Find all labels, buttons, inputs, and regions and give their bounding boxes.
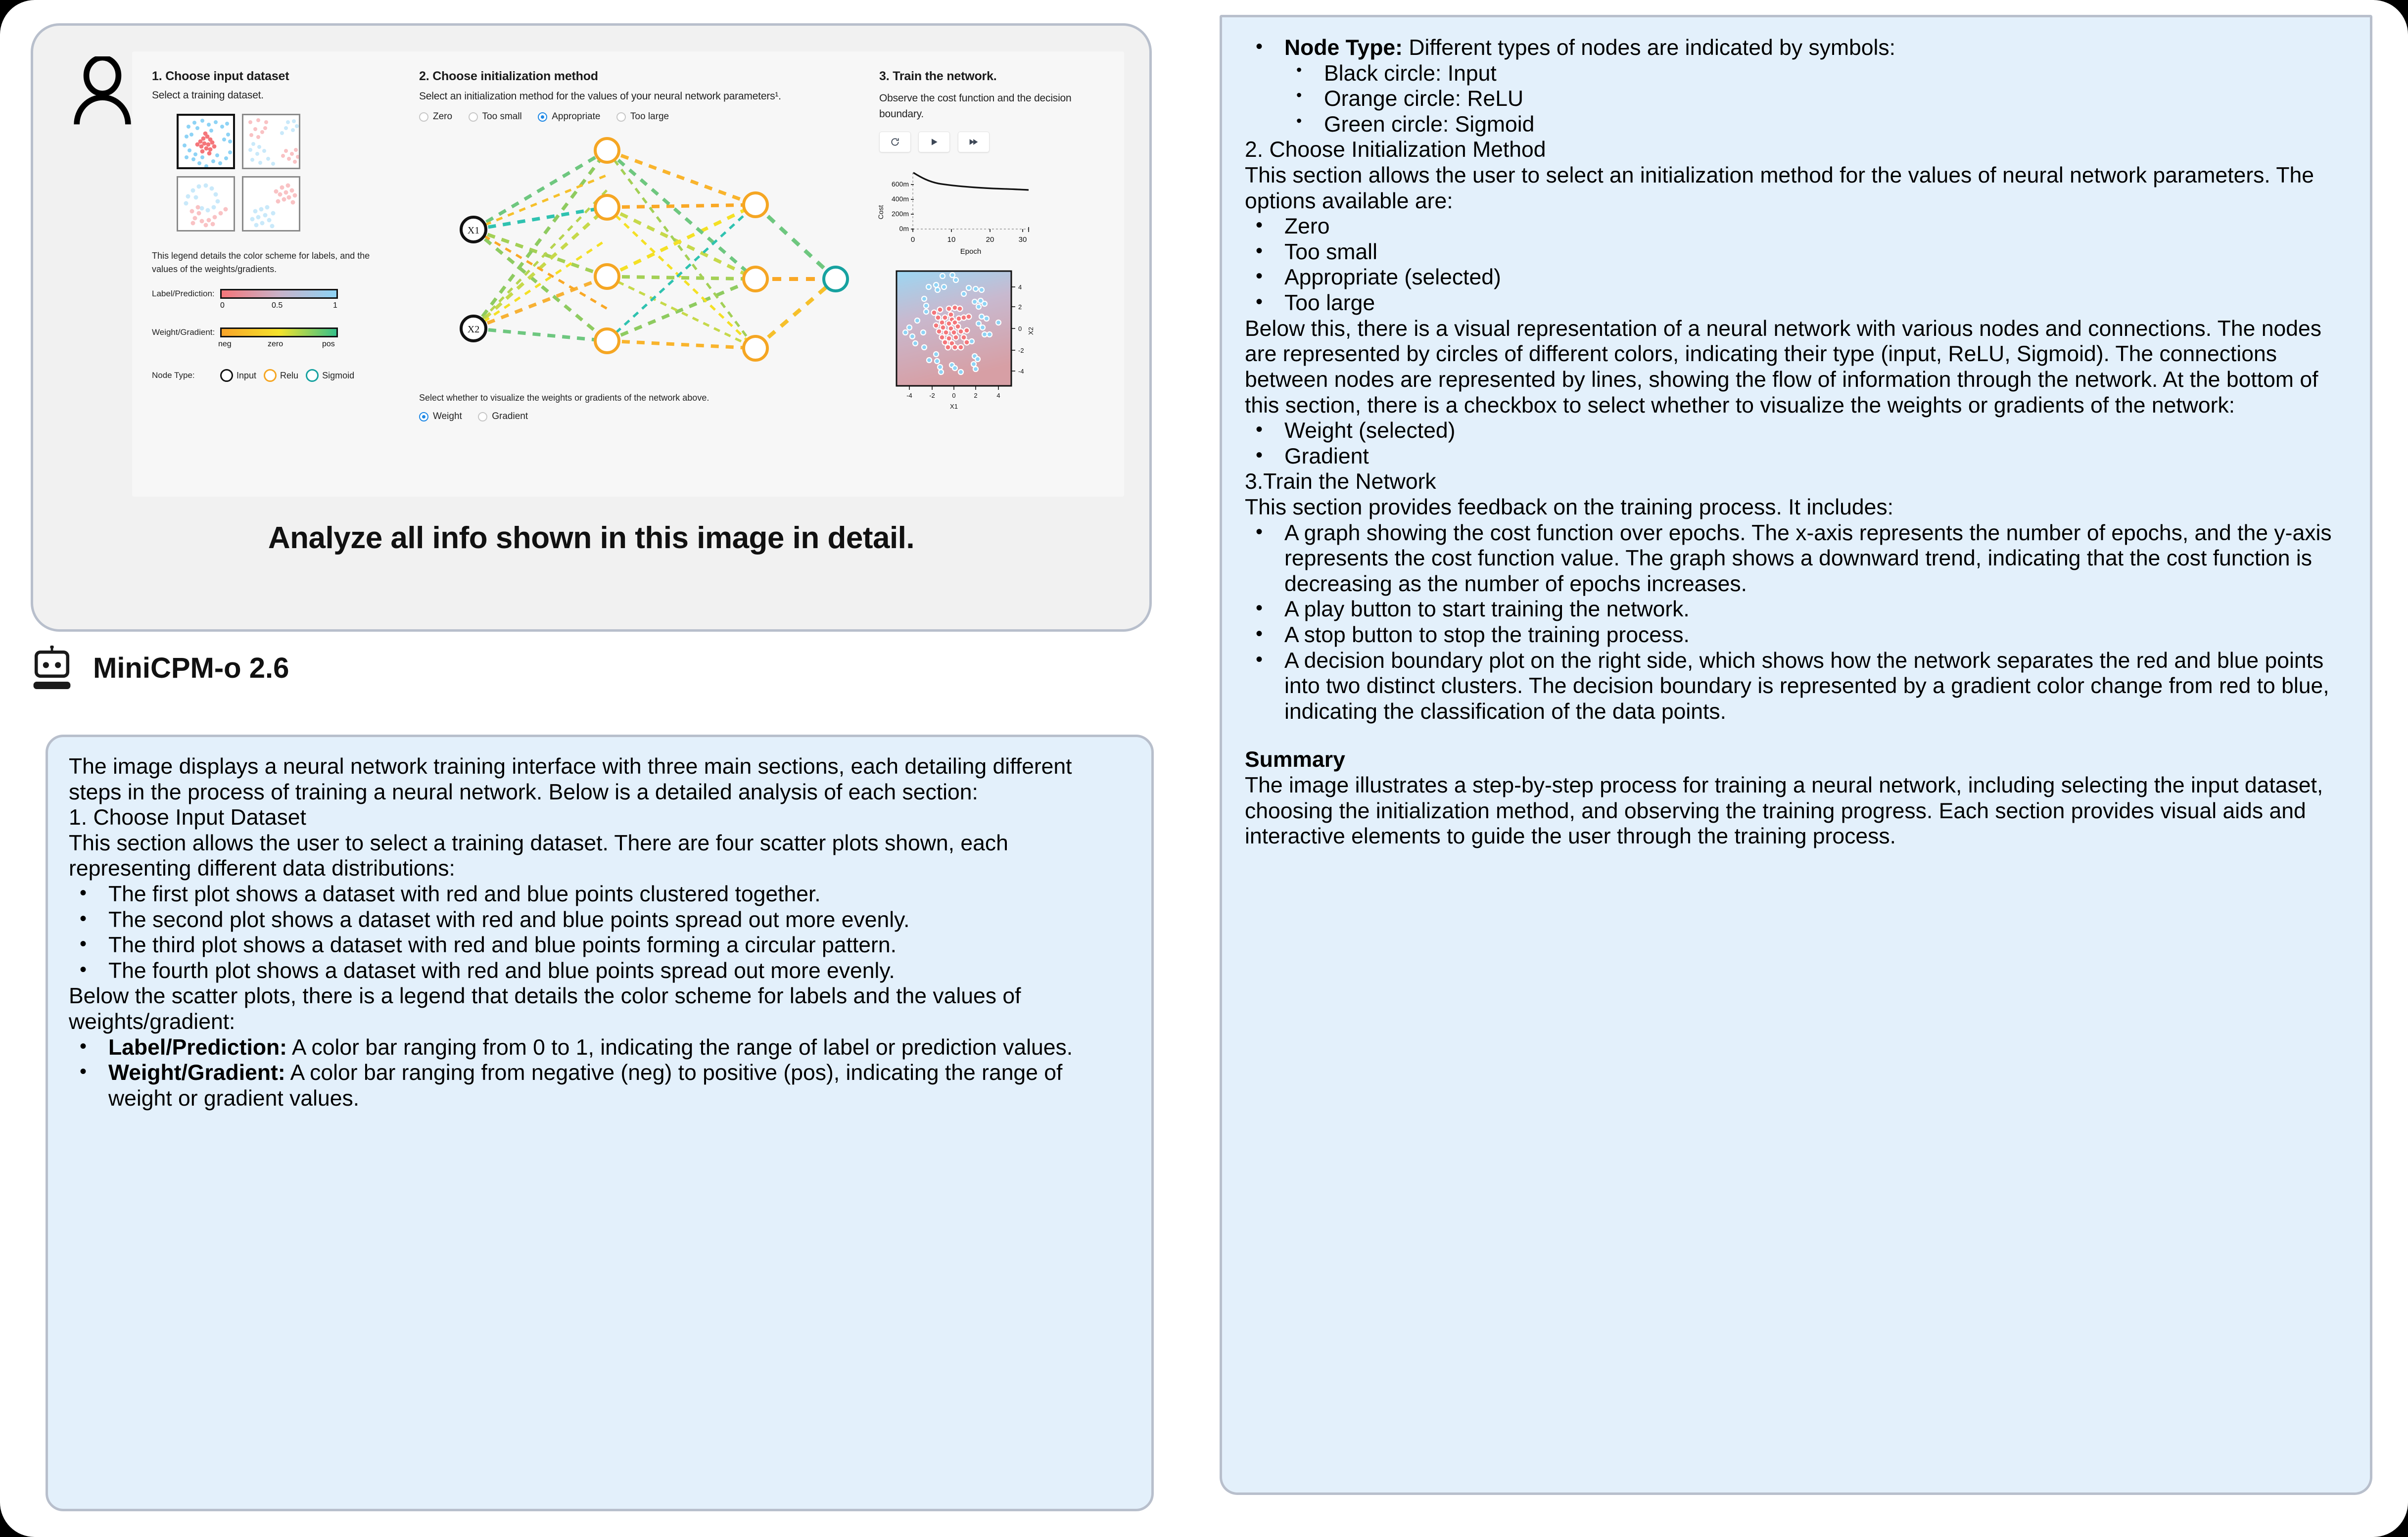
node-type-sub-list: Black circle: Input Orange circle: ReLU … [1245, 61, 2347, 138]
legend-desc-label-prediction: A color bar ranging from 0 to 1, indicat… [287, 1035, 1073, 1060]
response-para-5: This section provides feedback on the tr… [1245, 495, 2347, 520]
radio-dot-gradient[interactable] [478, 412, 487, 421]
list-item: Zero [1245, 214, 2347, 239]
list-item: Too large [1245, 290, 2347, 316]
legend-intro: This legend details the color scheme for… [152, 249, 384, 276]
response-para-2: Below the scatter plots, there is a lege… [69, 983, 1131, 1034]
response-heading-1: 1. Choose Input Dataset [69, 805, 1131, 831]
label-prediction-ticks: 0 0.5 1 [220, 301, 338, 311]
svg-text:600m: 600m [892, 180, 909, 188]
right-column: Node Type: Different types of nodes are … [1200, 0, 2408, 1537]
user-avatar-icon [70, 56, 135, 126]
relu-node-icon [264, 369, 277, 382]
label-prediction-legend: Label/Prediction: [152, 289, 384, 299]
dataset-bullet-list: The first plot shows a dataset with red … [69, 882, 1131, 983]
cost-chart-ylabel: Cost [877, 205, 885, 220]
list-item: The third plot shows a dataset with red … [69, 932, 1131, 958]
svg-text:X2: X2 [468, 324, 479, 335]
user-message-card: 1. Choose input dataset Select a trainin… [31, 23, 1152, 632]
label-prediction-label: Label/Prediction: [152, 289, 215, 299]
list-item: The fourth plot shows a dataset with red… [69, 958, 1131, 984]
viz-option-weight[interactable]: Weight [419, 411, 462, 422]
viz-option-weight-label: Weight [433, 411, 462, 422]
decision-boundary-plot: 420 -2-4 X2 -4-20 24 X1 [877, 264, 1045, 422]
svg-text:20: 20 [986, 235, 994, 244]
node-type-legend: Node Type: Input Relu Sigmoid [152, 369, 384, 382]
weight-gradient-ticks: neg zero pos [220, 339, 338, 349]
svg-text:-4: -4 [906, 392, 912, 399]
svg-text:200m: 200m [892, 210, 909, 218]
input-node-icon [220, 369, 233, 382]
svg-text:30: 30 [1019, 235, 1027, 244]
list-item: Orange circle: ReLU [1245, 86, 2347, 112]
list-item: Weight/Gradient: A color bar ranging fro… [69, 1060, 1131, 1111]
list-item: Gradient [1245, 444, 2347, 469]
list-item: The second plot shows a dataset with red… [69, 907, 1131, 933]
sigmoid-node-icon [306, 369, 319, 382]
response-para-4: Below this, there is a visual representa… [1245, 316, 2347, 418]
list-item: Node Type: Different types of nodes are … [1245, 35, 2347, 61]
panel2-subtitle: Select an initialization method for the … [419, 91, 845, 102]
play-icon [929, 137, 939, 147]
summary-heading: Summary [1245, 747, 2347, 773]
svg-text:0m: 0m [899, 225, 909, 233]
viz-option-gradient-label: Gradient [492, 411, 528, 422]
screenshot-panel-train: 3. Train the network. Observe the cost f… [879, 69, 1087, 152]
svg-text:0: 0 [952, 392, 955, 399]
legend-term-label-prediction: Label/Prediction: [108, 1035, 287, 1060]
legend-term-weight-gradient: Weight/Gradient: [108, 1061, 285, 1085]
init-options-list: Zero Too small Appropriate (selected) To… [1245, 214, 2347, 316]
svg-text:4: 4 [1018, 283, 1022, 291]
svg-text:-2: -2 [1018, 347, 1024, 354]
response-heading-2: 2. Choose Initialization Method [1245, 137, 2347, 163]
response-intro: The image displays a neural network trai… [69, 754, 1131, 805]
node-type-input-label: Input [236, 371, 256, 381]
assistant-header: MiniCPM-o 2.6 [31, 646, 289, 690]
panel2-title: 2. Choose initialization method [419, 69, 845, 84]
list-item: A stop button to stop the training proce… [1245, 622, 2347, 648]
weight-gradient-colorbar [220, 327, 338, 337]
weight-gradient-label: Weight/Gradient: [152, 327, 215, 337]
response-heading-3: 3.Train the Network [1245, 469, 2347, 495]
node-type-bullet-list: Node Type: Different types of nodes are … [1245, 35, 2347, 61]
dataset-thumbnail-2[interactable] [242, 114, 300, 169]
svg-text:2: 2 [974, 392, 977, 399]
svg-text:0: 0 [911, 235, 915, 244]
app-root: 1. Choose input dataset Select a trainin… [0, 0, 2408, 1537]
viz-option-gradient[interactable]: Gradient [478, 411, 528, 422]
db-ylabel: X2 [1027, 327, 1035, 335]
fast-forward-icon [968, 137, 979, 147]
weight-gradient-toggle-block: Select whether to visualize the weights … [419, 393, 795, 424]
svg-text:2: 2 [1018, 303, 1022, 311]
left-column: 1. Choose input dataset Select a trainin… [0, 0, 1200, 1537]
node-type-label: Node Type: [152, 371, 215, 380]
svg-text:X1: X1 [468, 225, 479, 236]
db-xlabel: X1 [950, 403, 958, 410]
panel3-title: 3. Train the network. [879, 69, 1087, 84]
dataset-thumbnail-4[interactable] [242, 176, 300, 232]
svg-text:-2: -2 [929, 392, 935, 399]
list-item: Appropriate (selected) [1245, 265, 2347, 290]
panel3-subtitle: Observe the cost function and the decisi… [879, 91, 1087, 122]
viz-radio-group[interactable]: Weight Gradient [419, 411, 795, 424]
node-type-sigmoid-label: Sigmoid [322, 371, 354, 381]
list-item: A play button to start training the netw… [1245, 597, 2347, 622]
list-item: Green circle: Sigmoid [1245, 112, 2347, 138]
reset-button[interactable] [879, 132, 911, 152]
fast-forward-button[interactable] [958, 132, 990, 152]
dataset-thumbnail-3[interactable] [177, 176, 235, 232]
assistant-response-bubble-left: The image displays a neural network trai… [46, 735, 1154, 1511]
summary-text: The image illustrates a step-by-step pro… [1245, 773, 2347, 849]
svg-text:400m: 400m [892, 195, 909, 203]
list-item: The first plot shows a dataset with red … [69, 882, 1131, 907]
user-prompt-text: Analyze all info shown in this image in … [33, 520, 1149, 556]
list-item: A decision boundary plot on the right si… [1245, 648, 2347, 725]
legend-block: This legend details the color scheme for… [152, 249, 384, 382]
list-item: Weight (selected) [1245, 418, 2347, 444]
list-item: Label/Prediction: A color bar ranging fr… [69, 1035, 1131, 1061]
panel1-title: 1. Choose input dataset [152, 69, 384, 84]
node-type-term: Node Type: [1284, 36, 1403, 60]
weight-gradient-legend: Weight/Gradient: [152, 327, 384, 337]
list-item: A graph showing the cost function over e… [1245, 520, 2347, 597]
node-type-desc: Different types of nodes are indicated b… [1403, 36, 1895, 60]
robot-icon [31, 646, 73, 690]
svg-text:4: 4 [996, 392, 1000, 399]
node-type-relu-label: Relu [280, 371, 298, 381]
dataset-thumbnail-grid [177, 114, 300, 232]
legend-bullet-list: Label/Prediction: A color bar ranging fr… [69, 1035, 1131, 1112]
radio-dot-weight[interactable] [419, 412, 428, 421]
assistant-response-bubble-right: Node Type: Different types of nodes are … [1220, 15, 2372, 1495]
svg-text:0: 0 [1018, 325, 1022, 332]
svg-text:-4: -4 [1018, 368, 1024, 375]
assistant-model-name: MiniCPM-o 2.6 [93, 652, 289, 685]
svg-text:10: 10 [947, 235, 956, 244]
response-para-3: This section allows the user to select a… [1245, 163, 2347, 214]
screenshot-panel-choose-dataset: 1. Choose input dataset Select a trainin… [152, 69, 384, 101]
embedded-screenshot: 1. Choose input dataset Select a trainin… [132, 51, 1124, 497]
train-bullet-list: A graph showing the cost function over e… [1245, 520, 2347, 725]
training-controls [879, 132, 1087, 152]
neural-network-diagram: .ln{stroke-linecap:butt;fill:none} [409, 116, 854, 422]
cost-chart-xlabel: Epoch [960, 247, 982, 256]
viz-prompt: Select whether to visualize the weights … [419, 393, 795, 403]
cost-curve [913, 173, 1029, 190]
dataset-thumbnail-1[interactable] [177, 114, 235, 169]
reset-icon [890, 137, 900, 147]
list-item: Too small [1245, 239, 2347, 265]
response-para-1: This section allows the user to select a… [69, 831, 1131, 882]
play-button[interactable] [918, 132, 950, 152]
list-item: Black circle: Input [1245, 61, 2347, 87]
viz-options-list: Weight (selected) Gradient [1245, 418, 2347, 469]
cost-chart: Cost 600m400m 200m0m [874, 158, 1042, 257]
panel1-subtitle: Select a training dataset. [152, 90, 384, 101]
label-prediction-colorbar [220, 289, 338, 299]
